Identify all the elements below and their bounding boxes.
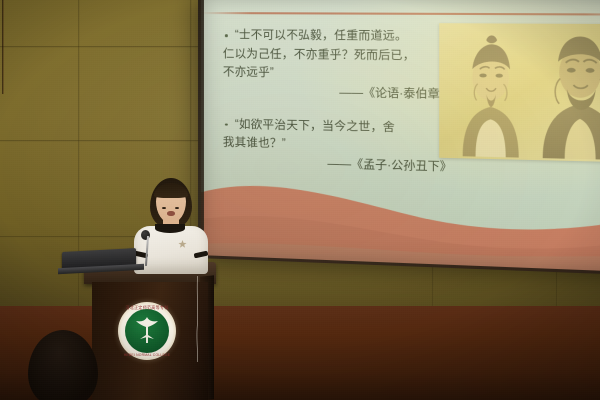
- eye: [175, 207, 179, 209]
- shirt-chest-logo-icon: [178, 240, 187, 248]
- portrait-illustration: [439, 23, 600, 163]
- emblem-top-text: 河北正定师范高等专科: [118, 305, 176, 311]
- slide-text-block: “士不可以不弘毅，任重而道远。 仁以为己任，不亦重乎？死而后已， 不亦远乎” —…: [223, 26, 459, 192]
- quote-source: ——《论语·泰伯章》: [223, 82, 459, 105]
- lectern: 河北正定师范高等专科 HEBEI NORMAL COLLEGE: [88, 262, 212, 400]
- projection-screen: “士不可以不弘毅，任重而道远。 仁以为己任，不亦重乎？死而后已， 不亦远乎” —…: [198, 0, 600, 275]
- quote-line: 不亦远乎”: [223, 63, 459, 85]
- emblem-bottom-text: HEBEI NORMAL COLLEGE: [118, 353, 176, 357]
- quote-mencius: “如欲平治天下，当今之世，舍 我其谁也？” ——《孟子·公孙丑下》: [223, 115, 459, 177]
- shirt-collar-trim: [155, 224, 185, 233]
- photo-scene: “士不可以不弘毅，任重而道远。 仁以为己任，不亦重乎？死而后已， 不亦远乎” —…: [0, 0, 600, 400]
- presenter: [128, 178, 214, 274]
- emblem-bird-icon: [133, 315, 161, 345]
- quote-analects: “士不可以不弘毅，任重而道远。 仁以为己任，不亦重乎？死而后已， 不亦远乎” —…: [223, 26, 459, 105]
- institution-emblem: 河北正定师范高等专科 HEBEI NORMAL COLLEGE: [118, 302, 176, 360]
- eye: [162, 207, 166, 209]
- quote-source: ——《孟子·公孙丑下》: [223, 152, 459, 177]
- hanging-cable: [196, 276, 199, 362]
- wainscot-seam: [2, 0, 4, 94]
- sage-portrait-image: 图片水印: [439, 23, 600, 163]
- mouth: [167, 211, 175, 216]
- quote-line: “士不可以不弘毅，任重而道远。: [223, 26, 459, 46]
